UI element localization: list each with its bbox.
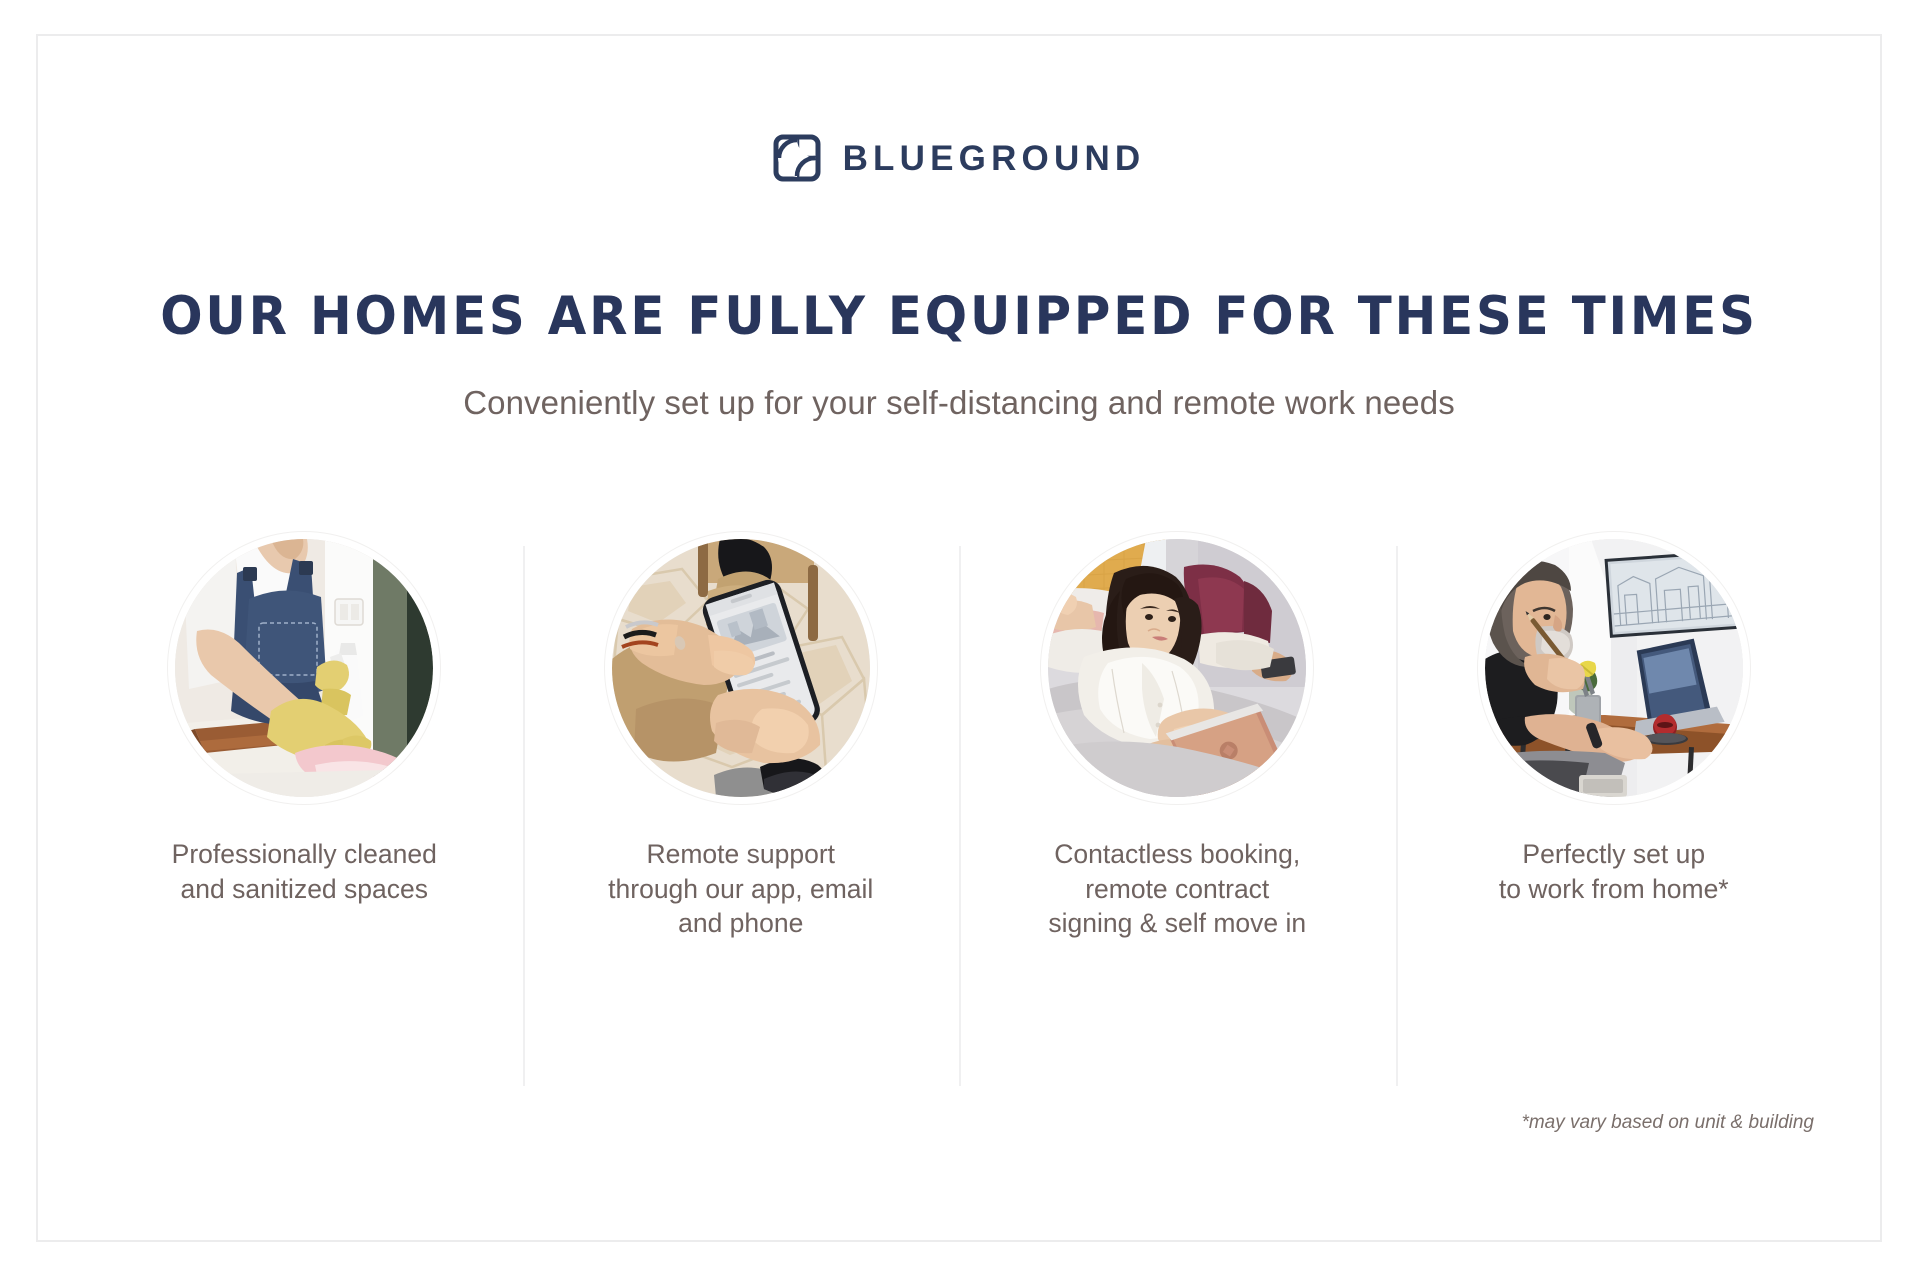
feature-image-cleaning bbox=[175, 539, 433, 797]
feature-caption: Professionally cleaned and sanitized spa… bbox=[172, 837, 437, 906]
poster-frame: BLUEGROUND OUR HOMES ARE FULLY EQUIPPED … bbox=[36, 34, 1882, 1242]
brand-logo: BLUEGROUND bbox=[38, 134, 1880, 182]
footnote-text: *may vary based on unit & building bbox=[1521, 1112, 1814, 1134]
feature-caption: Remote support through our app, email an… bbox=[608, 837, 873, 941]
cleaning-photo bbox=[175, 539, 433, 797]
feature-image-remote-support bbox=[612, 539, 870, 797]
feature-caption: Perfectly set up to work from home* bbox=[1499, 837, 1729, 906]
feature-column-contactless-booking: Contactless booking, remote contract sig… bbox=[959, 512, 1396, 1092]
feature-columns: Professionally cleaned and sanitized spa… bbox=[86, 512, 1832, 1092]
feature-column-remote-support: Remote support through our app, email an… bbox=[523, 512, 960, 1092]
feature-column-cleaning: Professionally cleaned and sanitized spa… bbox=[86, 512, 523, 1092]
feature-image-contactless-booking bbox=[1048, 539, 1306, 797]
feature-image-work-from-home bbox=[1485, 539, 1743, 797]
page-title: OUR HOMES ARE FULLY EQUIPPED FOR THESE T… bbox=[93, 286, 1824, 347]
man-at-desk-photo bbox=[1485, 539, 1743, 797]
brand-wordmark: BLUEGROUND bbox=[843, 141, 1146, 176]
page-subtitle: Conveniently set up for your self-distan… bbox=[38, 384, 1880, 422]
blueground-square-logo-icon bbox=[773, 134, 821, 182]
feature-caption: Contactless booking, remote contract sig… bbox=[1048, 837, 1306, 941]
phone-in-hands-photo bbox=[612, 539, 870, 797]
feature-column-work-from-home: Perfectly set up to work from home* bbox=[1396, 512, 1833, 1092]
woman-with-tablet-photo bbox=[1048, 539, 1306, 797]
